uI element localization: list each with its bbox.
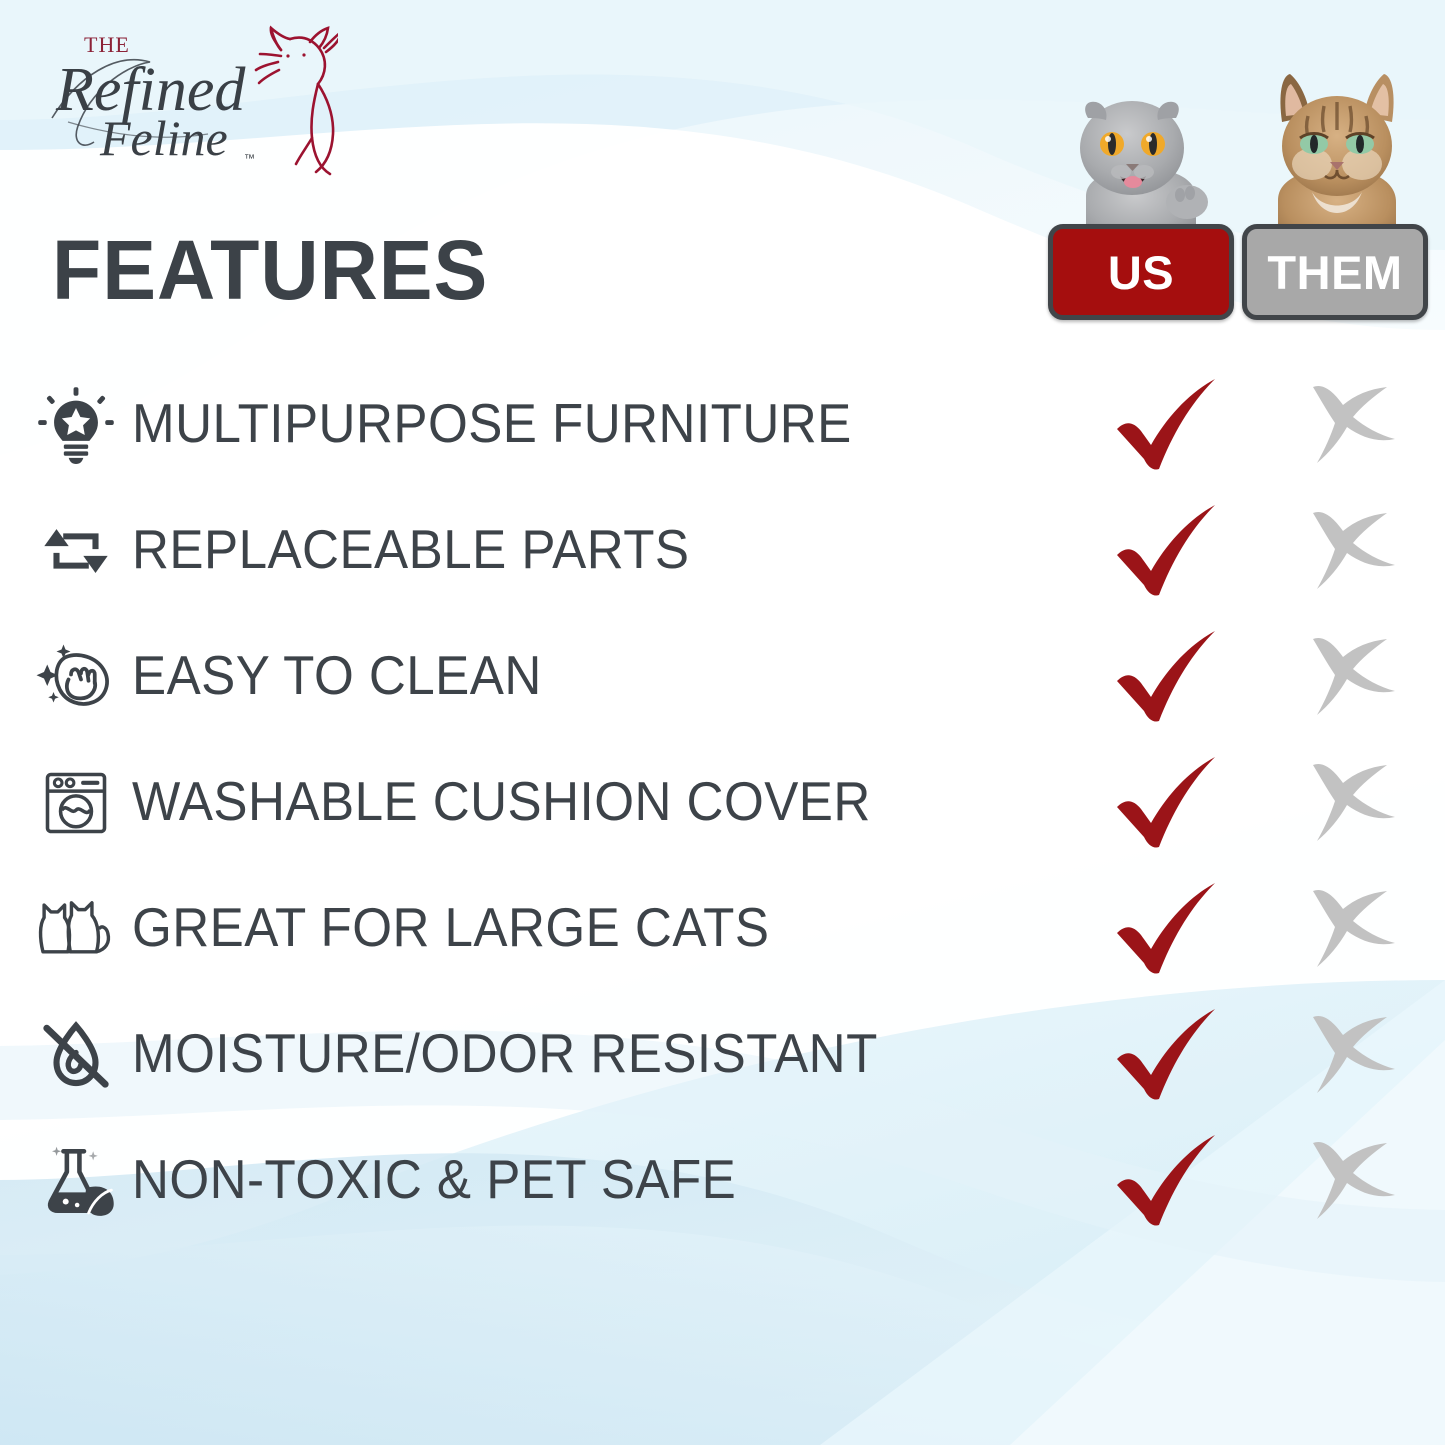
lightbulb-star-icon	[30, 379, 122, 471]
x-mark	[1292, 1009, 1410, 1101]
check-mark	[1108, 377, 1226, 473]
feature-row: MOISTURE/ODOR RESISTANT	[0, 992, 1445, 1118]
logo-feline-text: Feline	[99, 110, 228, 166]
infographic-root: THE Refined Feline ™	[0, 0, 1445, 1445]
features-list: MULTIPURPOSE FURNITURE	[0, 362, 1445, 1244]
feature-row: WASHABLE CUSHION COVER	[0, 740, 1445, 866]
feature-label: MULTIPURPOSE FURNITURE	[132, 391, 852, 455]
grey-scottish-fold-cat-photo	[1056, 76, 1226, 246]
comparison-header: US THEM	[1044, 58, 1436, 330]
feature-label: GREAT FOR LARGE CATS	[132, 895, 769, 959]
hand-wiping-sparkle-icon	[30, 631, 122, 723]
check-mark	[1108, 881, 1226, 977]
cat-silhouette-icon	[256, 28, 338, 174]
check-mark	[1108, 1133, 1226, 1229]
check-mark	[1108, 755, 1226, 851]
badge-them-label: THEM	[1267, 245, 1402, 300]
feature-row: EASY TO CLEAN	[0, 614, 1445, 740]
x-mark	[1292, 505, 1410, 597]
badge-them[interactable]: THEM	[1242, 224, 1428, 320]
feature-row: MULTIPURPOSE FURNITURE	[0, 362, 1445, 488]
check-mark	[1108, 1007, 1226, 1103]
no-water-droplet-icon	[30, 1009, 122, 1101]
feature-label: MOISTURE/ODOR RESISTANT	[132, 1021, 878, 1085]
x-mark	[1292, 883, 1410, 975]
check-mark	[1108, 503, 1226, 599]
feature-label: NON-TOXIC & PET SAFE	[132, 1147, 736, 1211]
feature-label: REPLACEABLE PARTS	[132, 517, 690, 581]
check-mark	[1108, 629, 1226, 725]
flask-leaf-icon	[30, 1135, 122, 1227]
two-cats-icon	[30, 883, 122, 975]
feature-row: REPLACEABLE PARTS	[0, 488, 1445, 614]
feature-row: NON-TOXIC & PET SAFE	[0, 1118, 1445, 1244]
feature-row: GREAT FOR LARGE CATS	[0, 866, 1445, 992]
brand-logo-svg: THE Refined Feline ™	[38, 22, 338, 182]
badge-us[interactable]: US	[1048, 224, 1234, 320]
badge-us-label: US	[1108, 245, 1174, 300]
x-mark	[1292, 1135, 1410, 1227]
brown-tabby-cat-photo	[1252, 60, 1422, 250]
page-title: FEATURES	[52, 228, 488, 312]
x-mark	[1292, 757, 1410, 849]
x-mark	[1292, 631, 1410, 723]
logo-the-text: THE	[84, 32, 130, 57]
brand-logo: THE Refined Feline ™	[38, 22, 338, 182]
x-mark	[1292, 379, 1410, 471]
washing-machine-icon	[30, 757, 122, 849]
feature-label: WASHABLE CUSHION COVER	[132, 769, 871, 833]
feature-label: EASY TO CLEAN	[132, 643, 542, 707]
logo-trademark-text: ™	[244, 153, 255, 165]
recycle-arrows-icon	[30, 505, 122, 597]
